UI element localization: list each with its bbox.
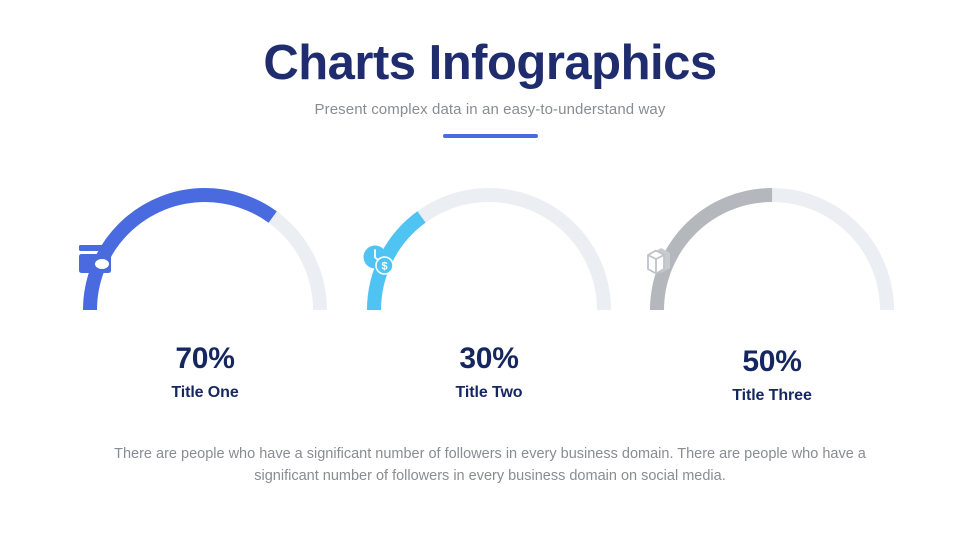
page-title: Charts Infographics xyxy=(0,38,980,89)
gauge-card-two[interactable]: $ 30% Title Two xyxy=(361,182,617,401)
gauge-percent-three: 50% xyxy=(644,347,900,377)
gauge-row: 70% Title One $ xyxy=(0,182,980,412)
gauge-title-one: Title One xyxy=(77,385,333,401)
gauge-arc-one xyxy=(77,182,333,314)
footer-description: There are people who have a significant … xyxy=(80,444,900,488)
gauge-card-one[interactable]: 70% Title One xyxy=(77,182,333,401)
clock-money-icon: $ xyxy=(361,244,617,276)
header: Charts Infographics Present complex data… xyxy=(0,38,980,138)
gauge-arc-three xyxy=(644,182,900,314)
accent-divider xyxy=(443,134,538,138)
gauge-arc-two: $ xyxy=(361,182,617,314)
page-subtitle: Present complex data in an easy-to-under… xyxy=(0,101,980,118)
package-box-icon xyxy=(644,244,900,278)
gauge-percent-one: 70% xyxy=(77,344,333,374)
gauge-title-two: Title Two xyxy=(361,385,617,401)
gauge-title-three: Title Three xyxy=(644,388,900,404)
credit-card-icon xyxy=(77,244,333,274)
svg-text:$: $ xyxy=(381,260,387,272)
gauge-card-three[interactable]: 50% Title Three xyxy=(644,182,900,404)
gauge-text-two: 30% Title Two xyxy=(361,344,617,401)
gauge-text-one: 70% Title One xyxy=(77,344,333,401)
slide-canvas: Charts Infographics Present complex data… xyxy=(0,0,980,551)
gauge-text-three: 50% Title Three xyxy=(644,347,900,404)
gauge-percent-two: 30% xyxy=(361,344,617,374)
